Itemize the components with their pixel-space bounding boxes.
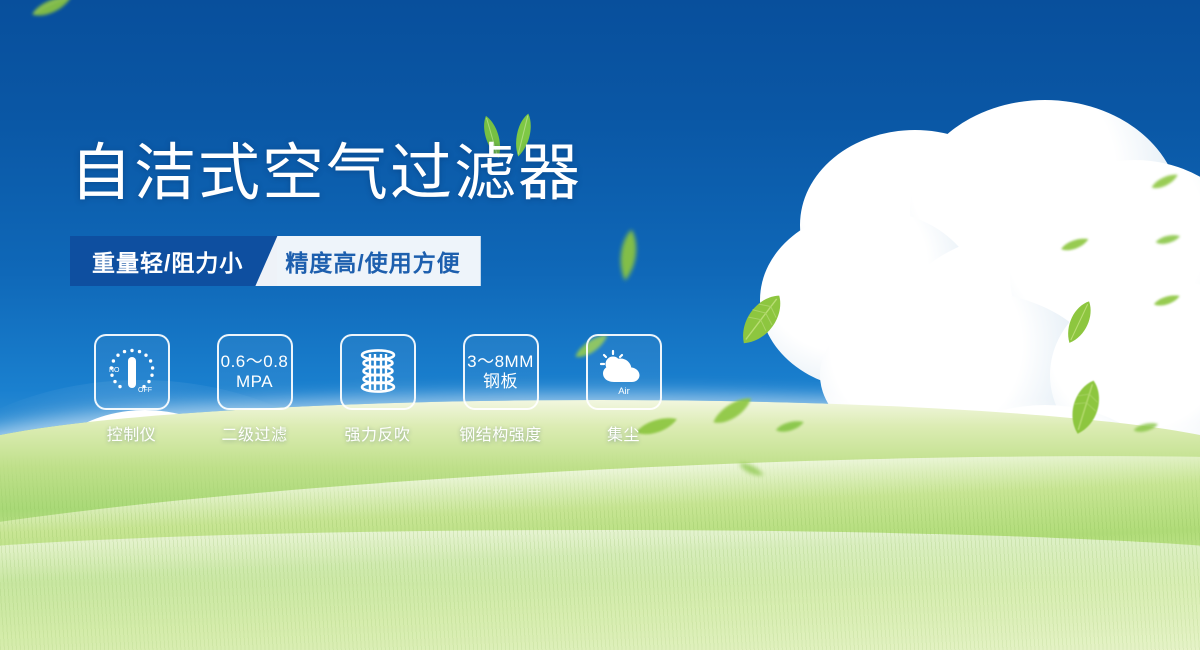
feature-item-pressure[interactable]: 0.6～0.8 MPA 二级过滤 xyxy=(193,334,316,445)
feature-icon-box: Air xyxy=(586,334,662,410)
subtitle-badge: 重量轻/阻力小 精度高/使用方便 xyxy=(70,236,481,286)
feature-item-dust[interactable]: Air 集尘 xyxy=(562,334,685,445)
feature-caption: 二级过滤 xyxy=(221,421,287,445)
feature-caption: 强力反吹 xyxy=(344,421,410,445)
filter-coil-icon xyxy=(348,342,408,402)
page-title: 自洁式空气过滤器 xyxy=(70,142,582,204)
steel-plate-text-icon: 3～8MM 钢板 xyxy=(467,352,534,392)
steel-material: 钢板 xyxy=(467,372,534,392)
feature-item-control[interactable]: NO OFF 控制仪 xyxy=(70,334,193,445)
feature-caption: 控制仪 xyxy=(107,421,157,445)
pressure-unit: MPA xyxy=(221,372,289,392)
feature-caption: 集尘 xyxy=(607,421,640,445)
subtitle-segment-left: 重量轻/阻力小 xyxy=(70,236,277,286)
subtitle-segment-right: 精度高/使用方便 xyxy=(255,236,480,286)
pressure-value: 0.6～0.8 xyxy=(221,352,289,372)
feature-item-backblow[interactable]: 强力反吹 xyxy=(316,334,439,445)
cloud-air-label: Air xyxy=(618,386,630,397)
feature-icon-box xyxy=(340,334,416,410)
pressure-text-icon: 0.6～0.8 MPA xyxy=(221,352,289,392)
steel-thickness: 3～8MM xyxy=(467,352,534,372)
feature-icon-box: NO OFF xyxy=(94,334,170,410)
dial-label-off: OFF xyxy=(138,387,152,394)
cloud-air-icon: Air xyxy=(594,342,654,402)
feature-icon-box: 3～8MM 钢板 xyxy=(463,334,539,410)
promo-banner: 自洁式空气过滤器 重量轻/阻力小 精度高/使用方便 xyxy=(0,0,1200,650)
feature-list: NO OFF 控制仪 0.6～0.8 MPA 二级过滤 xyxy=(70,334,685,445)
dial-label-on: NO xyxy=(109,367,120,374)
feature-icon-box: 0.6～0.8 MPA xyxy=(217,334,293,410)
feature-item-steel[interactable]: 3～8MM 钢板 钢结构强度 xyxy=(439,334,562,445)
control-dial-icon: NO OFF xyxy=(102,342,162,402)
feature-caption: 钢结构强度 xyxy=(459,421,542,445)
